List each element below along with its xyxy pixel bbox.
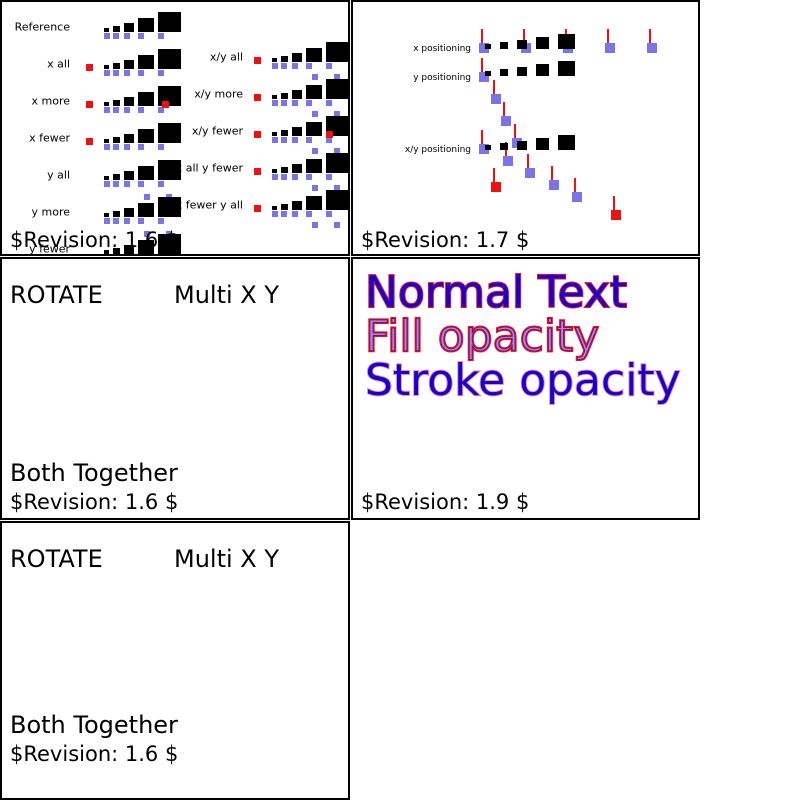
glyph-block — [517, 67, 527, 76]
marker-tick — [574, 178, 576, 192]
glyph-position-marker — [326, 211, 332, 217]
position-marker-blue — [491, 94, 501, 104]
revision-label-positioning: $Revision: 1.7 $ — [361, 228, 529, 252]
marker-tick — [649, 29, 651, 43]
revision-label-rotate-2: $Revision: 1.6 $ — [10, 742, 178, 766]
position-marker-blue — [647, 43, 657, 53]
rotate-footer-2: Both Together — [10, 711, 178, 739]
positioning-row-label: y positioning — [413, 73, 471, 83]
glyph-block — [517, 141, 527, 150]
marker-tick — [613, 196, 615, 210]
glyph-position-marker — [138, 255, 144, 256]
rotate-subtitle-2: Multi X Y — [174, 545, 279, 573]
glyph-position-marker — [124, 255, 130, 256]
positioning-row-label: x positioning — [413, 44, 471, 54]
glyph-block — [558, 34, 575, 49]
glyph-block — [536, 37, 549, 49]
glyph-position-marker-dropped — [312, 222, 318, 228]
glyph-position-marker — [281, 211, 287, 217]
marker-tick — [551, 166, 553, 180]
marker-tick — [607, 29, 609, 43]
glyph-position-marker — [104, 255, 110, 256]
glyph-position-marker — [292, 211, 298, 217]
glyph-block — [292, 201, 302, 210]
opacity-line-normal: Normal Text — [365, 271, 627, 315]
row-start-red-marker — [254, 205, 261, 212]
marker-tick — [481, 130, 483, 144]
rotate-footer-1: Both Together — [10, 459, 178, 487]
panel-char-positioning: Referencex allx morex fewery ally morey … — [0, 0, 350, 256]
glyph-block — [517, 40, 527, 49]
marker-tick — [493, 80, 495, 94]
revision-label-opacity: $Revision: 1.9 $ — [361, 490, 529, 514]
panel-xy-positioning: x positioningy positioningx/y positionin… — [351, 0, 700, 256]
position-marker-blue — [605, 43, 615, 53]
revision-label-rotate-1: $Revision: 1.6 $ — [10, 490, 178, 514]
char-row — [2, 2, 348, 254]
revision-label-chars: $Revision: 1.6 $ — [10, 228, 178, 252]
glyph-block — [281, 204, 288, 210]
panel-text-opacity: Normal Text Fill opacity Stroke opacity … — [351, 257, 700, 520]
marker-tick — [481, 29, 483, 43]
panel-rotate-second: ROTATE Multi X Y Both Together $Revision… — [0, 521, 350, 800]
glyph-block — [558, 61, 575, 76]
opacity-line-fill-opacity: Fill opacity — [365, 315, 599, 359]
glyph-block — [500, 69, 508, 76]
position-marker-blue — [549, 180, 559, 190]
glyph-position-marker — [113, 255, 119, 256]
glyph-position-marker-dropped — [334, 222, 340, 228]
position-marker-blue — [503, 156, 513, 166]
glyph-block — [485, 145, 491, 150]
panel-empty — [351, 521, 700, 800]
svg-test-grid: Referencex allx morex fewery ally morey … — [0, 0, 800, 800]
marker-tick — [493, 168, 495, 182]
position-marker-red — [611, 210, 621, 220]
panel-rotate-first: ROTATE Multi X Y Both Together $Revision… — [0, 257, 350, 520]
glyph-block — [536, 138, 549, 150]
opacity-line-stroke-opacity: Stroke opacity — [365, 359, 681, 403]
glyph-block — [500, 143, 508, 150]
position-marker-blue — [501, 116, 511, 126]
glyph-position-marker — [158, 255, 164, 256]
positioning-row-label: x/y positioning — [405, 145, 471, 155]
rotate-title-2: ROTATE — [10, 545, 103, 573]
glyph-block — [485, 71, 491, 76]
glyph-block — [536, 64, 549, 76]
glyph-block — [306, 196, 322, 210]
marker-tick — [481, 58, 483, 72]
rotate-subtitle-1: Multi X Y — [174, 281, 279, 309]
glyph-block — [326, 190, 349, 210]
glyph-position-marker — [272, 211, 278, 217]
position-marker-red — [491, 182, 501, 192]
rotate-title-1: ROTATE — [10, 281, 103, 309]
glyph-block — [272, 206, 277, 210]
marker-tick — [514, 124, 516, 138]
marker-tick — [527, 154, 529, 168]
glyph-block — [485, 44, 491, 49]
glyph-block — [558, 135, 575, 150]
position-marker-blue — [525, 168, 535, 178]
marker-tick — [503, 102, 505, 116]
glyph-block — [500, 42, 508, 49]
glyph-position-marker — [306, 211, 312, 217]
position-marker-blue — [572, 192, 582, 202]
